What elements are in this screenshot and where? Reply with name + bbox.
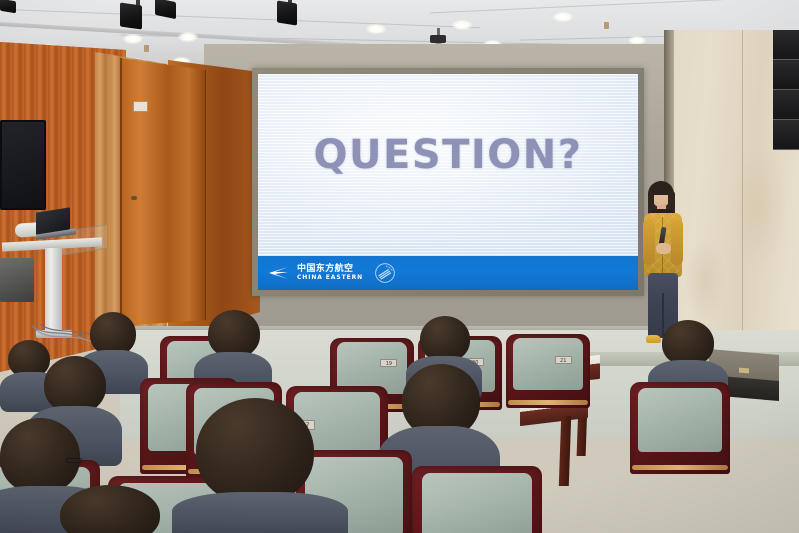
table-row[interactable] xyxy=(630,382,730,474)
slide-headline: QUESTION? xyxy=(258,132,638,178)
seat-cushion xyxy=(638,388,722,452)
presenter-hands xyxy=(656,243,671,254)
ceiling-seam xyxy=(430,0,799,13)
recessed-downlight-icon xyxy=(178,32,198,42)
seat-number-plate: 21 xyxy=(555,356,572,364)
seat-armrest-trim xyxy=(508,400,589,405)
av-mixer-icon[interactable] xyxy=(0,258,34,302)
presenter-arm-left xyxy=(643,219,655,265)
eyeglasses-icon xyxy=(66,458,82,463)
recessed-downlight-icon xyxy=(553,12,573,22)
slide-footer-bar: 中国东方航空 CHINA EASTERN xyxy=(258,256,638,290)
attendee-head xyxy=(196,398,314,504)
china-eastern-wordmark: 中国东方航空 CHINA EASTERN xyxy=(297,265,363,281)
sprinkler-head-icon xyxy=(144,45,149,52)
seat-armrest-trim xyxy=(632,465,728,470)
recessed-downlight-icon xyxy=(123,34,143,44)
skyteam-emblem-icon xyxy=(374,262,396,284)
brand-name-english: CHINA EASTERN xyxy=(297,275,363,281)
desk-leg xyxy=(559,416,571,486)
recessed-downlight-icon xyxy=(366,24,386,34)
hanging-speaker-icon xyxy=(155,0,176,19)
ceiling-camera-icon xyxy=(430,35,446,43)
presenter-arm-right xyxy=(671,219,683,265)
auditorium-scene: QUESTION? 中国东方航空 CHINA EASTERN xyxy=(0,0,799,533)
china-eastern-swallow-icon xyxy=(268,265,290,281)
projection-screen[interactable]: QUESTION? 中国东方航空 CHINA EASTERN xyxy=(258,74,638,290)
audience-seating: 19 20 21 17 xyxy=(0,300,799,533)
attendee-shoulders xyxy=(172,492,348,533)
table-row[interactable]: 21 xyxy=(506,334,590,408)
seat-number-plate: 19 xyxy=(380,359,397,367)
hanging-speaker-icon xyxy=(0,0,16,13)
wall-switch-icon[interactable] xyxy=(133,101,148,112)
hanging-speaker-icon xyxy=(277,0,297,25)
door-handle-icon[interactable] xyxy=(131,196,137,200)
hanging-speaker-icon xyxy=(120,2,142,29)
attendee-head xyxy=(208,310,260,358)
display-monitor-icon[interactable] xyxy=(0,120,46,210)
seat-cushion xyxy=(513,338,584,390)
attendee-head xyxy=(0,418,80,494)
table-row[interactable] xyxy=(412,466,542,533)
brand-name-chinese: 中国东方航空 xyxy=(297,265,363,274)
recessed-downlight-icon xyxy=(452,20,472,30)
sprinkler-head-icon xyxy=(604,22,609,29)
wall-speaker-array-icon xyxy=(773,30,799,150)
wood-door-icon[interactable] xyxy=(120,58,206,326)
seat-cushion xyxy=(422,473,531,533)
